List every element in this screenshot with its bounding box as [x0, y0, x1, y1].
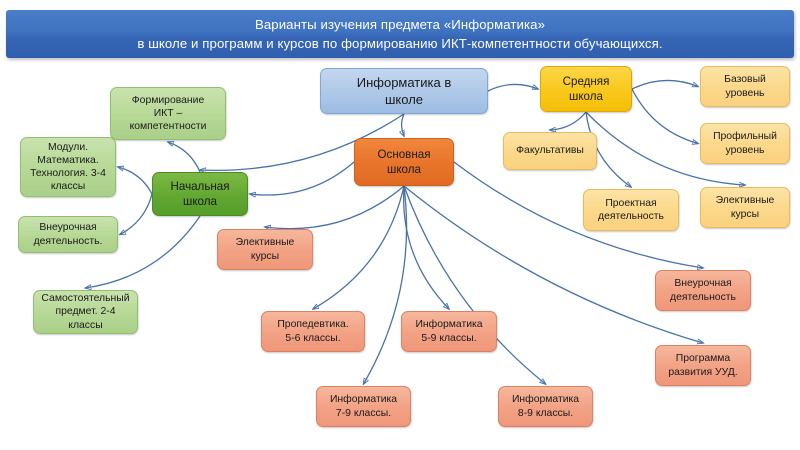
edge-basic-to-elect-primary	[265, 186, 404, 229]
node-label: Формирование ИКТ – компетентности	[130, 94, 207, 134]
node-label: Базовый уровень	[724, 73, 766, 99]
node-propaedeutics[interactable]: Пропедевтика. 5-6 классы.	[261, 311, 365, 352]
node-basic[interactable]: Основная школа	[354, 138, 454, 186]
edge-basic-to-inf-8-9	[404, 186, 546, 384]
node-label: Информатика 8-9 классы.	[512, 393, 579, 419]
node-inf-8-9[interactable]: Информатика 8-9 классы.	[498, 386, 593, 427]
node-ikt[interactable]: Формирование ИКТ – компетентности	[110, 87, 226, 140]
node-primary[interactable]: Начальная школа	[152, 172, 248, 216]
edge-primary-to-extra-primary	[120, 194, 152, 235]
node-extra-basic[interactable]: Внеурочная деятельность	[655, 270, 751, 311]
node-extra-primary[interactable]: Внеурочная деятельность.	[18, 216, 118, 253]
node-label: Информатика в школе	[357, 74, 452, 108]
node-root[interactable]: Информатика в школе	[320, 68, 488, 114]
node-label: Модули. Математика. Технология. 3-4 клас…	[30, 141, 106, 194]
node-label: Начальная школа	[171, 179, 230, 209]
diagram-canvas: Варианты изучения предмета «Информатика»…	[0, 0, 800, 450]
node-label: Элективные курсы	[716, 194, 775, 220]
node-label: Внеурочная деятельность	[670, 277, 736, 303]
edge-root-to-senior	[488, 84, 538, 91]
node-elect-primary[interactable]: Элективные курсы	[217, 229, 313, 270]
edge-root-to-basic	[402, 114, 404, 136]
node-elect-senior[interactable]: Элективные курсы	[700, 187, 790, 228]
node-label: Пропедевтика. 5-6 классы.	[277, 318, 348, 344]
edge-senior-to-level-basic	[632, 80, 698, 89]
node-label: Основная школа	[378, 147, 431, 177]
edge-primary-to-ikt	[168, 142, 200, 172]
edge-senior-to-facultatives	[550, 112, 586, 130]
edge-basic-to-propaedeutics	[313, 186, 404, 309]
node-label: Факультативы	[516, 144, 584, 157]
node-label: Программа развития УУД.	[668, 352, 737, 378]
node-level-profile[interactable]: Профильный уровень	[700, 123, 790, 164]
node-inf-5-9[interactable]: Информатика 5-9 классы.	[401, 311, 497, 352]
node-label: Внеурочная деятельность.	[34, 221, 103, 247]
node-independent[interactable]: Самостоятельный предмет. 2-4 классы	[33, 290, 138, 334]
node-modules[interactable]: Модули. Математика. Технология. 3-4 клас…	[20, 137, 116, 197]
node-label: Средняя школа	[563, 74, 610, 104]
edge-basic-to-inf-7-9	[364, 186, 407, 384]
node-facultatives[interactable]: Факультативы	[503, 132, 597, 170]
node-level-basic[interactable]: Базовый уровень	[700, 66, 790, 107]
edge-senior-to-level-profile	[632, 89, 698, 144]
node-label: Самостоятельный предмет. 2-4 классы	[41, 292, 129, 332]
node-inf-7-9[interactable]: Информатика 7-9 классы.	[316, 386, 411, 427]
node-label: Проектная деятельность	[598, 197, 664, 223]
node-uud[interactable]: Программа развития УУД.	[655, 345, 751, 386]
node-label: Информатика 7-9 классы.	[330, 393, 397, 419]
node-label: Информатика 5-9 классы.	[415, 318, 482, 344]
edge-primary-to-modules	[118, 167, 152, 194]
node-label: Профильный уровень	[713, 130, 777, 156]
node-project[interactable]: Проектная деятельность	[583, 189, 679, 231]
node-senior[interactable]: Средняя школа	[540, 66, 632, 112]
node-label: Элективные курсы	[236, 236, 295, 262]
